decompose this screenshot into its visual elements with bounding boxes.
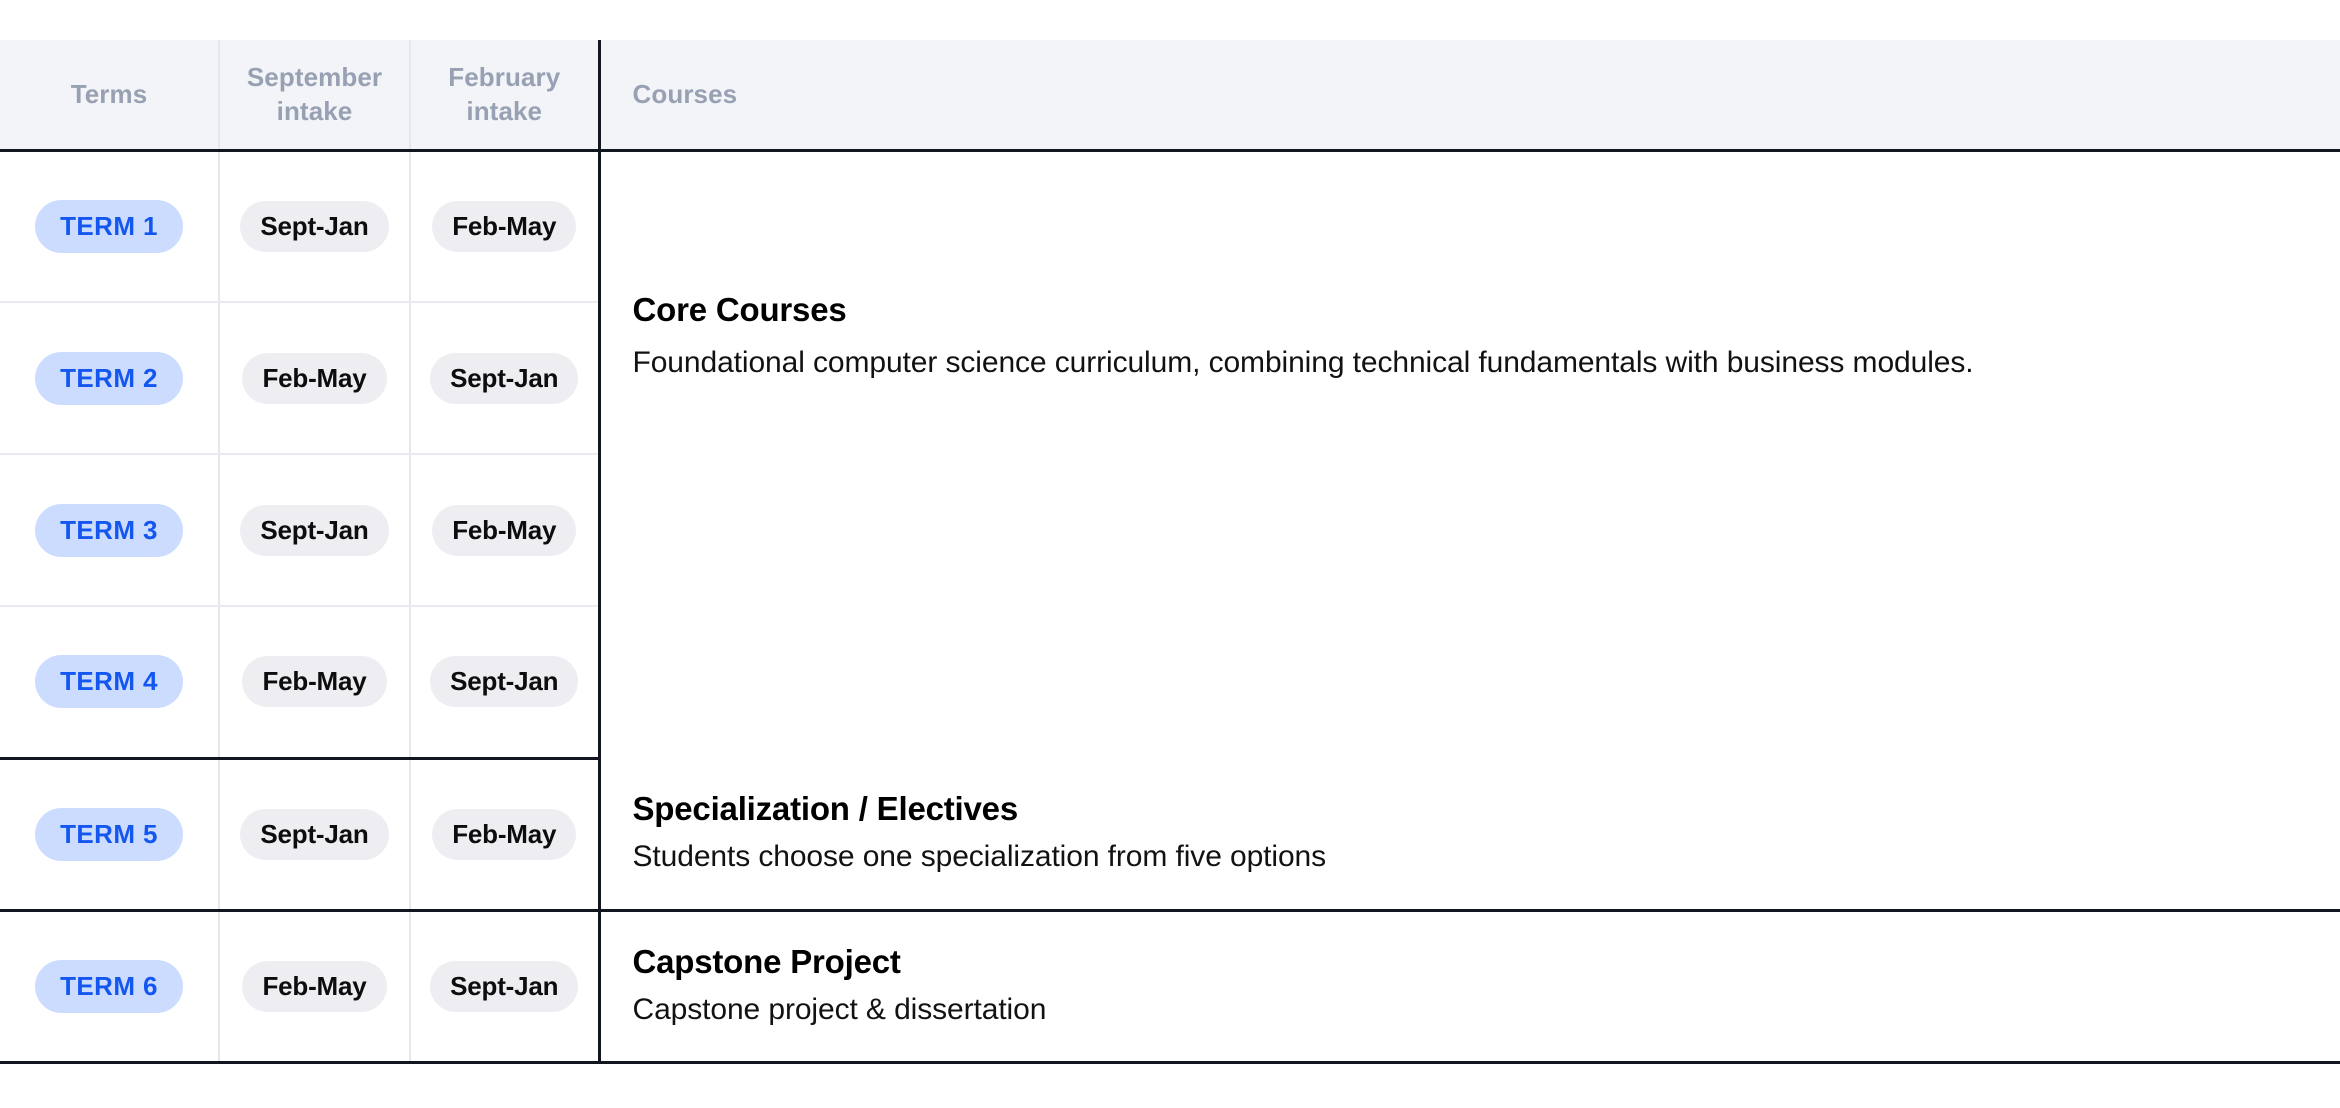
intake-badge[interactable]: Feb-May <box>432 505 576 556</box>
september-intake-cell: Sept-Jan <box>219 454 410 606</box>
course-group-title: Core Courses <box>633 289 2301 330</box>
course-schedule-table: Terms September intake February intake C… <box>0 40 2340 1064</box>
february-intake-cell: Sept-Jan <box>410 606 599 758</box>
intake-badge[interactable]: Feb-May <box>432 201 576 252</box>
column-header-september-line2: intake <box>220 94 409 128</box>
term-cell: TERM 2 <box>0 302 219 454</box>
column-header-terms[interactable]: Terms <box>0 40 219 150</box>
course-group-capstone: Capstone Project Capstone project & diss… <box>599 910 2340 1062</box>
term-badge[interactable]: TERM 4 <box>35 655 183 708</box>
course-group-title: Capstone Project <box>633 941 2301 982</box>
course-group-content: Core Courses Foundational computer scien… <box>601 289 2340 384</box>
column-header-terms-label: Terms <box>0 77 218 111</box>
intake-badge[interactable]: Feb-May <box>242 353 386 404</box>
column-header-february-intake[interactable]: February intake <box>410 40 599 150</box>
september-intake-cell: Sept-Jan <box>219 758 410 910</box>
intake-badge[interactable]: Sept-Jan <box>430 961 578 1012</box>
term-cell: TERM 3 <box>0 454 219 606</box>
february-intake-cell: Sept-Jan <box>410 910 599 1062</box>
table-header: Terms September intake February intake C… <box>0 40 2340 150</box>
course-group-description: Foundational computer science curriculum… <box>633 341 2173 385</box>
intake-badge[interactable]: Sept-Jan <box>430 353 578 404</box>
term-cell: TERM 6 <box>0 910 219 1062</box>
term-badge[interactable]: TERM 2 <box>35 352 183 405</box>
course-group-content: Capstone Project Capstone project & diss… <box>601 941 2340 1032</box>
intake-badge[interactable]: Sept-Jan <box>240 809 388 860</box>
september-intake-cell: Feb-May <box>219 910 410 1062</box>
course-group-specialization: Specialization / Electives Students choo… <box>599 758 2340 910</box>
intake-badge[interactable]: Feb-May <box>242 656 386 707</box>
column-header-february-line2: intake <box>411 94 598 128</box>
table-row: TERM 6 Feb-May Sept-Jan Capstone Project… <box>0 910 2340 1062</box>
column-header-september-line1: September <box>220 60 409 94</box>
column-header-february-line1: February <box>411 60 598 94</box>
course-group-description: Capstone project & dissertation <box>633 988 2173 1032</box>
term-badge[interactable]: TERM 5 <box>35 808 183 861</box>
term-badge[interactable]: TERM 1 <box>35 200 183 253</box>
intake-badge[interactable]: Sept-Jan <box>240 201 388 252</box>
september-intake-cell: Sept-Jan <box>219 150 410 302</box>
table-body: TERM 1 Sept-Jan Feb-May Core Courses Fou… <box>0 150 2340 1062</box>
intake-badge[interactable]: Sept-Jan <box>430 656 578 707</box>
course-group-title: Specialization / Electives <box>633 788 2301 829</box>
february-intake-cell: Sept-Jan <box>410 302 599 454</box>
course-group-description: Students choose one specialization from … <box>633 835 2173 879</box>
table-row: TERM 5 Sept-Jan Feb-May Specialization /… <box>0 758 2340 910</box>
september-intake-cell: Feb-May <box>219 302 410 454</box>
term-badge[interactable]: TERM 6 <box>35 960 183 1013</box>
intake-badge[interactable]: Feb-May <box>432 809 576 860</box>
course-group-core: Core Courses Foundational computer scien… <box>599 150 2340 758</box>
column-header-courses-label: Courses <box>633 77 2340 111</box>
february-intake-cell: Feb-May <box>410 150 599 302</box>
term-cell: TERM 1 <box>0 150 219 302</box>
column-header-september-intake[interactable]: September intake <box>219 40 410 150</box>
course-group-content: Specialization / Electives Students choo… <box>601 788 2340 879</box>
intake-badge[interactable]: Sept-Jan <box>240 505 388 556</box>
term-cell: TERM 4 <box>0 606 219 758</box>
september-intake-cell: Feb-May <box>219 606 410 758</box>
column-header-courses[interactable]: Courses <box>599 40 2340 150</box>
header-row: Terms September intake February intake C… <box>0 40 2340 150</box>
february-intake-cell: Feb-May <box>410 758 599 910</box>
table-row: TERM 1 Sept-Jan Feb-May Core Courses Fou… <box>0 150 2340 302</box>
intake-badge[interactable]: Feb-May <box>242 961 386 1012</box>
term-badge[interactable]: TERM 3 <box>35 504 183 557</box>
term-cell: TERM 5 <box>0 758 219 910</box>
february-intake-cell: Feb-May <box>410 454 599 606</box>
page-root: Terms September intake February intake C… <box>0 0 2340 1108</box>
